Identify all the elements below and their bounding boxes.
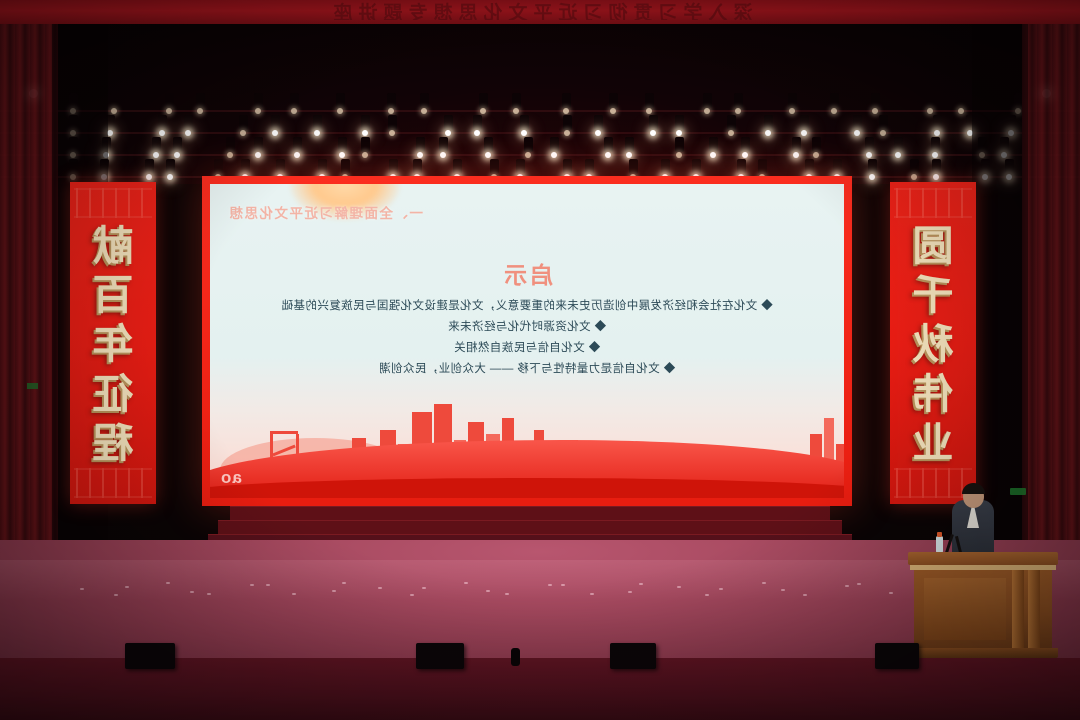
stage-light-housing (420, 93, 429, 108)
slide-bullet-list: ◆ 文化在社会和经济发展中创造历史未来的重要意义，文化是建设文化强国与民族复兴的… (210, 300, 844, 384)
floor-monitor (610, 643, 656, 669)
stage-light-housing (625, 137, 634, 152)
slide-bullet: ◆ 文化自信与民族自然相关 (210, 342, 844, 354)
stage-light-housing (416, 137, 425, 152)
stage-light-housing (520, 115, 529, 130)
stage-light-icon (895, 152, 901, 158)
stage-light-icon (595, 130, 601, 136)
stage-light-housing (868, 159, 877, 174)
side-curtain-right (1022, 24, 1080, 554)
banner-left: 献 百 年 征 程 (70, 182, 156, 504)
step (218, 520, 842, 535)
stage-light-icon (704, 108, 710, 114)
stage-light-housing (276, 159, 285, 174)
stage-light-housing (439, 137, 448, 152)
screen-watermark: ao (220, 468, 242, 488)
stage-light-icon (742, 152, 748, 158)
stage-light-icon (525, 152, 531, 158)
stage-light-icon (735, 108, 741, 114)
stage-light-housing (931, 137, 940, 152)
stage-light-icon (813, 152, 819, 158)
stage-light-housing (293, 137, 302, 152)
stage-light-icon (521, 130, 527, 136)
stage-light-housing (645, 93, 654, 108)
stage-light-icon (866, 152, 872, 158)
stage-light-icon (255, 152, 261, 158)
slide-bullet: ◆ 文化在社会和经济发展中创造历史未来的重要意义，文化是建设文化强国与民族复兴的… (210, 300, 844, 312)
stage-light-housing (361, 115, 370, 130)
fret-pattern (74, 468, 152, 498)
stage-light-icon (927, 108, 933, 114)
stage-light-housing (792, 137, 801, 152)
stage-light-icon (933, 174, 939, 180)
banner-char: 年 (93, 324, 134, 365)
stage-light-housing (741, 137, 750, 152)
stage-light-icon (563, 108, 569, 114)
stage-light-icon (389, 130, 395, 136)
stage-light-housing (184, 115, 193, 130)
stage-light-icon (111, 108, 117, 114)
stage-light-housing (629, 159, 638, 174)
podium (908, 552, 1058, 662)
ceiling-lighting-rig (0, 24, 1080, 184)
truss-bar (0, 154, 1080, 156)
stage-light-icon (610, 108, 616, 114)
slide-title: 启示 (210, 256, 844, 290)
stage-light-housing (910, 159, 919, 174)
stage-light-housing (226, 137, 235, 152)
stage-light-icon (197, 108, 203, 114)
stage-light-icon (240, 130, 246, 136)
stage-light-housing (585, 159, 594, 174)
stage-light-icon (793, 152, 799, 158)
stage-light-housing (336, 93, 345, 108)
slide-section-heading: 一、全面理解习近平文化思想 (228, 202, 423, 222)
stage-light-icon (728, 130, 734, 136)
stage-light-icon (626, 152, 632, 158)
stage-light-icon (272, 130, 278, 136)
stage-light-housing (313, 115, 322, 130)
banner-char: 百 (93, 275, 134, 316)
stage-light-housing (894, 137, 903, 152)
banner-char: 程 (93, 423, 134, 464)
stage-light-icon (650, 130, 656, 136)
stage-light-housing (853, 115, 862, 130)
stage-light-icon (480, 108, 486, 114)
stage-light-icon (831, 108, 837, 114)
stage-light-icon (911, 174, 917, 180)
stage-light-housing (550, 137, 559, 152)
stage-light-housing (812, 137, 821, 152)
stage-light-housing (239, 115, 248, 130)
stage-light-icon (388, 108, 394, 114)
stage-light-housing (764, 115, 773, 130)
stage-light-housing (865, 137, 874, 152)
stage-light-icon (789, 108, 795, 114)
stage-light-icon (854, 130, 860, 136)
stage-light-housing (932, 159, 941, 174)
stage-light-housing (788, 93, 797, 108)
slide-bullet: ◆ 文化自信是力量特性与下移 —— 大众创业，民众创潮 (210, 363, 844, 375)
banner-char: 献 (93, 226, 134, 267)
stage-light-housing (271, 115, 280, 130)
stage-light-housing (562, 93, 571, 108)
stage-light-housing (361, 137, 370, 152)
stage-light-icon (362, 152, 368, 158)
side-curtain-left (0, 24, 58, 554)
stage-mic-icon (511, 648, 520, 666)
stage-light-housing (933, 115, 942, 130)
stage-light-housing (516, 159, 525, 174)
stage-light-housing (388, 115, 397, 130)
stage-light-housing (318, 159, 327, 174)
stage-light-icon (869, 174, 875, 180)
stage-light-housing (413, 159, 422, 174)
stage-light-housing (166, 159, 175, 174)
stage-light-icon (958, 108, 964, 114)
stage-light-icon (513, 108, 519, 114)
stage-light-housing (254, 93, 263, 108)
stage-light-housing (524, 137, 533, 152)
banner-right-characters: 圆 千 秋 伟 业 (890, 222, 976, 468)
slide-bullet: ◆ 文化资源时代化与经济未来 (210, 321, 844, 333)
stage-light-housing (387, 93, 396, 108)
stage-light-icon (159, 130, 165, 136)
stage-light-housing (830, 93, 839, 108)
floor-monitor (416, 643, 464, 669)
stage-light-housing (727, 115, 736, 130)
stage-light-icon (314, 130, 320, 136)
stage-light-housing (341, 159, 350, 174)
stage-light-housing (158, 115, 167, 130)
stage-light-housing (926, 93, 935, 108)
stage-light-icon (227, 152, 233, 158)
stage-light-icon (146, 174, 152, 180)
podium-base (908, 648, 1058, 658)
fret-pattern (894, 188, 972, 218)
stage-light-icon (880, 130, 886, 136)
stage-light-housing (871, 93, 880, 108)
step (230, 506, 830, 521)
stage-light-housing (152, 137, 161, 152)
stage-scene: 深入学习贯彻习近平文化思想专题讲座 献 百 年 征 程 圆 千 秋 (0, 0, 1080, 720)
stage-light-icon (337, 108, 343, 114)
stage-light-housing (290, 93, 299, 108)
banner-left-characters: 献 百 年 征 程 (70, 222, 156, 468)
stage-light-housing (594, 115, 603, 130)
stage-light-housing (800, 115, 809, 130)
stage-light-icon (445, 130, 451, 136)
stage-light-housing (241, 159, 250, 174)
stage-light-housing (709, 137, 718, 152)
stage-light-icon (474, 130, 480, 136)
stage-light-icon (166, 108, 172, 114)
stage-light-housing (214, 159, 223, 174)
podium-top (908, 552, 1058, 565)
stage-light-housing (512, 93, 521, 108)
stage-light-icon (765, 130, 771, 136)
stage-light-housing (338, 137, 347, 152)
banner-right: 圆 千 秋 伟 业 (890, 182, 976, 504)
banner-char: 秋 (913, 324, 954, 365)
stage-light-housing (110, 93, 119, 108)
stage-light-icon (339, 152, 345, 158)
stage-light-icon (255, 108, 261, 114)
stage-light-icon (167, 174, 173, 180)
floor-monitor (125, 643, 175, 669)
water-bottle (936, 536, 943, 553)
stage-light-housing (758, 159, 767, 174)
stage-light-housing (173, 137, 182, 152)
stage-light-housing (563, 115, 572, 130)
stage-light-icon (417, 152, 423, 158)
stage-light-icon (440, 152, 446, 158)
stage-light-icon (676, 130, 682, 136)
stage-light-housing (254, 137, 263, 152)
banner-char: 伟 (913, 374, 954, 415)
podium-panel (924, 578, 1006, 640)
stage-light-icon (934, 130, 940, 136)
stage-light-housing (692, 159, 701, 174)
stage-light-icon (294, 152, 300, 158)
fret-pattern (74, 188, 152, 218)
stage-light-icon (801, 130, 807, 136)
stage-light-icon (710, 152, 716, 158)
stage-light-icon (362, 130, 368, 136)
stage-light-icon (153, 152, 159, 158)
stage-light-icon (676, 152, 682, 158)
stage-light-housing (957, 93, 966, 108)
stage-light-icon (185, 130, 191, 136)
overhead-banner: 深入学习贯彻习近平文化思想专题讲座 (0, 0, 1080, 24)
stage-light-housing (703, 93, 712, 108)
stage-light-housing (563, 159, 572, 174)
ribbon-dark (210, 478, 844, 498)
stage-light-housing (389, 159, 398, 174)
stage-light-housing (649, 115, 658, 130)
stage-light-icon (551, 152, 557, 158)
stage-light-housing (444, 115, 453, 130)
stage-light-icon (421, 108, 427, 114)
stage-light-housing (661, 159, 670, 174)
stage-light-housing (479, 93, 488, 108)
stage-light-housing (833, 159, 842, 174)
led-screen: 一、全面理解习近平文化思想 启示 ◆ 文化在社会和经济发展中创造历史未来的重要意… (210, 184, 844, 498)
banner-char: 征 (93, 374, 134, 415)
fret-pattern (894, 468, 972, 498)
stage-light-housing (737, 159, 746, 174)
stage-light-housing (490, 159, 499, 174)
stage-light-housing (484, 137, 493, 152)
led-screen-frame: 一、全面理解习近平文化思想 启示 ◆ 文化在社会和经济发展中创造历史未来的重要意… (202, 176, 852, 506)
stage-light-housing (604, 137, 613, 152)
stage-light-icon (932, 152, 938, 158)
podium-column (1012, 570, 1024, 648)
banner-char: 千 (913, 275, 954, 316)
floor-monitor (875, 643, 919, 669)
overhead-banner-text: 深入学习贯彻习近平文化思想专题讲座 (0, 0, 1080, 20)
stage-light-icon (485, 152, 491, 158)
stage-light-housing (145, 159, 154, 174)
stage-light-icon (291, 108, 297, 114)
stage-light-icon (646, 108, 652, 114)
stage-light-housing (675, 137, 684, 152)
stage-light-housing (609, 93, 618, 108)
exit-sign-icon (27, 383, 38, 389)
stage-light-housing (473, 115, 482, 130)
banner-char: 圆 (913, 226, 954, 267)
stage-light-icon (872, 108, 878, 114)
stage-light-housing (734, 93, 743, 108)
stage-light-housing (196, 93, 205, 108)
stage-light-icon (564, 130, 570, 136)
podium-column (1028, 570, 1040, 648)
exit-sign-icon (1010, 488, 1026, 495)
cityscape-artwork: ao (210, 398, 844, 498)
stage-light-housing (453, 159, 462, 174)
stage-light-icon (174, 152, 180, 158)
stage-light-icon (605, 152, 611, 158)
stage-light-housing (675, 115, 684, 130)
banner-char: 业 (913, 423, 954, 464)
stage-light-housing (805, 159, 814, 174)
stage-light-housing (165, 93, 174, 108)
stage-light-housing (879, 115, 888, 130)
truss-bar (0, 110, 1080, 112)
